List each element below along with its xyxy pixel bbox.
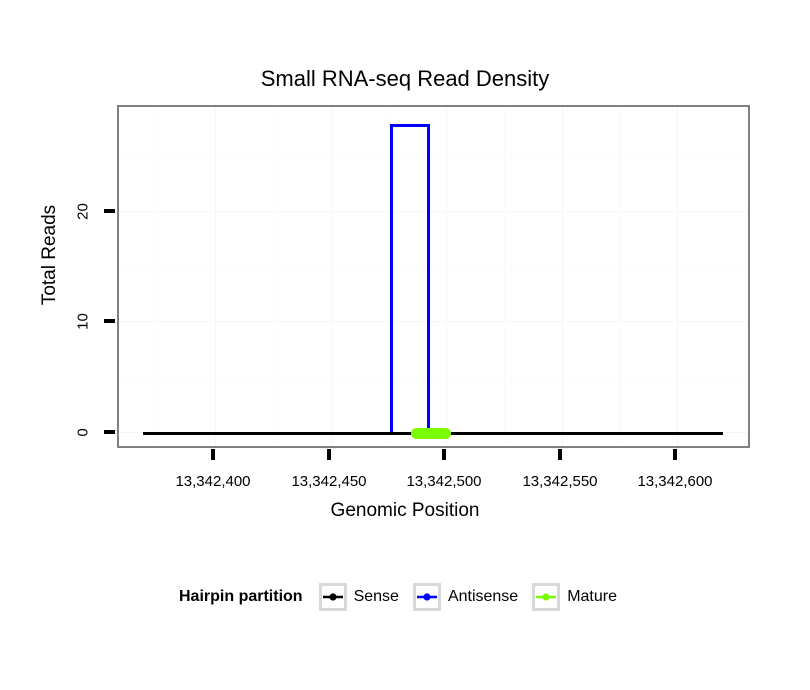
ytick-mark-0 (104, 430, 115, 434)
gridline-x-13342425 (273, 107, 274, 446)
gridline-y-25 (119, 156, 748, 157)
xtick-mark-13342500 (442, 449, 446, 460)
xtick-label-13342600: 13,342,600 (615, 473, 735, 490)
ytick-label-10: 10 (75, 305, 92, 339)
gridline-x-13342575 (620, 107, 621, 446)
plot-area (119, 107, 748, 446)
legend: Hairpin partition Sense Antisense (0, 583, 810, 611)
gridline-x-13342525 (504, 107, 505, 446)
chart-title: Small RNA-seq Read Density (0, 66, 810, 92)
ytick-label-0: 0 (75, 416, 92, 450)
xtick-mark-13342600 (673, 449, 677, 460)
legend-entry-antisense[interactable]: Antisense (413, 583, 518, 611)
legend-key-sense-icon (319, 583, 347, 611)
gridline-x-13342450 (331, 107, 332, 446)
y-axis-title: Total Reads (39, 165, 61, 345)
gridline-x-13342400 (215, 107, 216, 446)
legend-key-antisense-icon (413, 583, 441, 611)
antisense-peak-top (390, 124, 430, 127)
gridline-y-15 (119, 266, 748, 267)
gridline-x-13342375 (157, 107, 158, 446)
legend-title: Hairpin partition (179, 588, 303, 606)
plot-panel (117, 105, 750, 448)
xtick-mark-13342400 (211, 449, 215, 460)
legend-label-sense: Sense (354, 588, 399, 606)
gridline-y-5 (119, 377, 748, 378)
legend-entry-mature[interactable]: Mature (532, 583, 617, 611)
xtick-label-13342400: 13,342,400 (153, 473, 273, 490)
chart-figure: Small RNA-seq Read Density (0, 0, 810, 690)
xtick-mark-13342550 (558, 449, 562, 460)
gridline-y-10 (119, 321, 748, 322)
xtick-label-13342550: 13,342,550 (500, 473, 620, 490)
ytick-mark-10 (104, 319, 115, 323)
legend-label-antisense: Antisense (448, 588, 518, 606)
xtick-label-13342450: 13,342,450 (269, 473, 389, 490)
legend-entry-sense[interactable]: Sense (319, 583, 399, 611)
ytick-mark-20 (104, 209, 115, 213)
x-axis-title: Genomic Position (0, 500, 810, 522)
gridline-x-13342500 (446, 107, 447, 446)
legend-key-mature-icon (532, 583, 560, 611)
antisense-peak-left-edge (390, 124, 393, 435)
gridline-y-20 (119, 211, 748, 212)
xtick-mark-13342450 (327, 449, 331, 460)
gridline-x-13342600 (677, 107, 678, 446)
ytick-label-20: 20 (75, 195, 92, 229)
gridline-x-13342550 (562, 107, 563, 446)
legend-label-mature: Mature (567, 588, 617, 606)
mature-region-bar (411, 428, 451, 439)
xtick-label-13342500: 13,342,500 (384, 473, 504, 490)
antisense-peak-right-edge (427, 124, 430, 435)
